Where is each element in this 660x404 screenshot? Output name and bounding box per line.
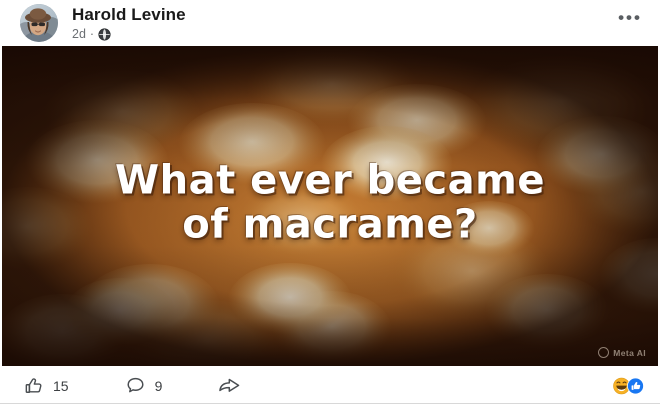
post-header: Harold Levine 2d · ••• (0, 0, 660, 46)
ellipsis-icon: ••• (618, 14, 642, 22)
comment-button[interactable]: 9 (125, 375, 163, 396)
reaction-summary[interactable] (613, 377, 644, 394)
thumbs-up-icon (24, 376, 44, 396)
post-options-button[interactable]: ••• (616, 8, 644, 28)
globe-icon[interactable] (98, 28, 111, 41)
comment-count: 9 (155, 378, 163, 394)
bokeh-background (2, 46, 658, 366)
like-badge-icon (627, 377, 644, 394)
share-arrow-icon (218, 375, 241, 396)
post-meta-row: 2d · (72, 27, 186, 41)
meta-ai-label: Meta AI (613, 348, 646, 358)
post-author-block: Harold Levine 2d · (72, 5, 186, 41)
meta-ring-icon (598, 347, 609, 358)
avatar[interactable] (20, 4, 58, 42)
comment-bubble-icon (125, 375, 146, 396)
social-post-card: Harold Levine 2d · ••• (0, 0, 660, 404)
like-button[interactable]: 15 (24, 376, 69, 396)
meta-separator: · (90, 27, 94, 41)
author-name[interactable]: Harold Levine (72, 5, 186, 24)
meta-ai-watermark: Meta AI (598, 347, 646, 358)
post-image[interactable]: What ever became of macrame? Meta AI (2, 46, 658, 366)
share-button[interactable] (218, 375, 250, 396)
like-count: 15 (53, 378, 69, 394)
post-timestamp[interactable]: 2d (72, 27, 86, 41)
post-action-bar: 15 9 (0, 366, 660, 404)
